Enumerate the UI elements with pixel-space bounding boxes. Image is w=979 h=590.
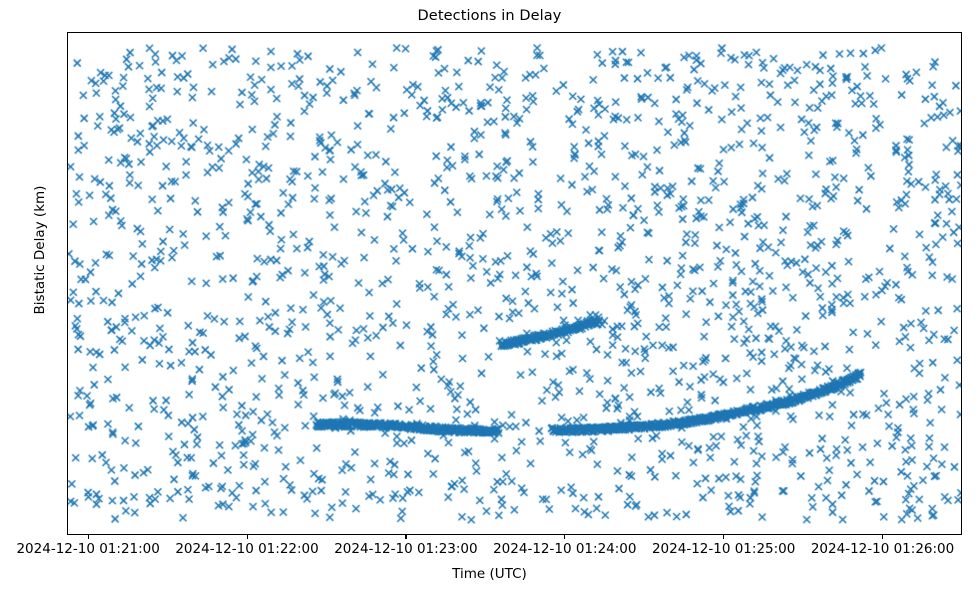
x-tick-mark — [723, 535, 724, 539]
plot-axes — [67, 32, 962, 535]
y-axis-label: Bistatic Delay (km) — [32, 0, 48, 500]
x-tick-label: 2024-12-10 01:26:00 — [753, 541, 979, 557]
x-tick-mark — [247, 535, 248, 539]
matplotlib-figure: Detections in Delay Bistatic Delay (km) … — [0, 0, 979, 590]
page-title: Detections in Delay — [0, 8, 979, 24]
x-tick-mark — [405, 535, 406, 539]
x-axis-label: Time (UTC) — [0, 566, 979, 582]
x-tick-mark — [882, 535, 883, 539]
x-tick-mark — [88, 535, 89, 539]
x-tick-mark — [564, 535, 565, 539]
scatter-plot-canvas — [68, 33, 961, 534]
